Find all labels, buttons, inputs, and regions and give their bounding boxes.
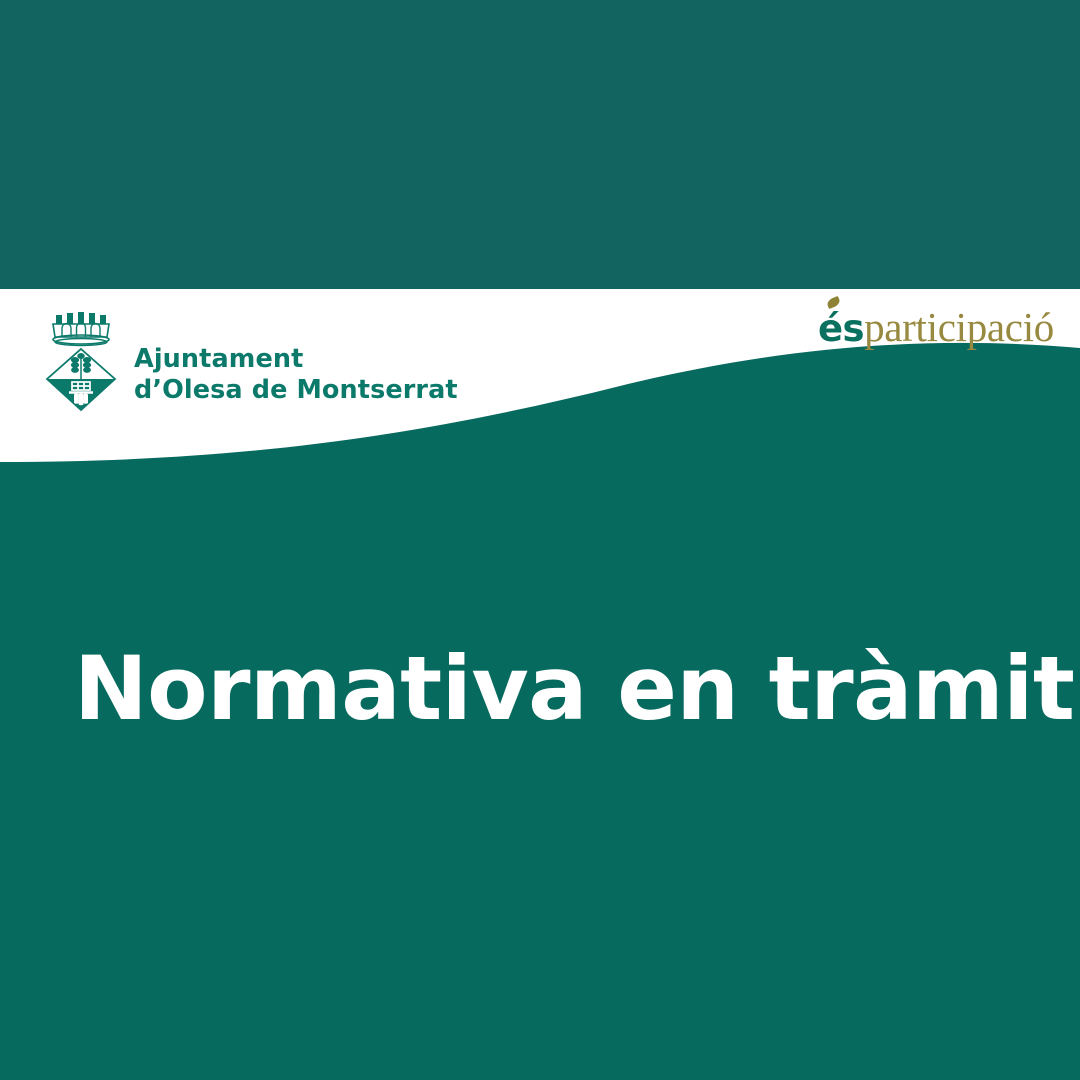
header-band-content: Ajuntament d’Olesa de Montserrat és part… (0, 289, 1080, 464)
brand-line-2: d’Olesa de Montserrat (134, 375, 458, 406)
esparticipacio-suffix: participació (864, 303, 1054, 351)
brand-text-block: Ajuntament d’Olesa de Montserrat (134, 318, 458, 406)
esparticipacio-logo[interactable]: és participació (818, 303, 1054, 351)
brand-line-1: Ajuntament (134, 344, 458, 375)
banner-canvas: Ajuntament d’Olesa de Montserrat és part… (0, 0, 1080, 1080)
background-wave-graphic (0, 0, 1080, 1080)
municipality-brand[interactable]: Ajuntament d’Olesa de Montserrat (44, 311, 458, 413)
coat-of-arms-icon (44, 311, 118, 413)
esparticipacio-prefix: és (818, 307, 864, 350)
esparticipacio-prefix-text: és (818, 307, 864, 350)
shield-diamond (47, 349, 115, 410)
page-title: Normativa en tràmit (74, 645, 1034, 733)
